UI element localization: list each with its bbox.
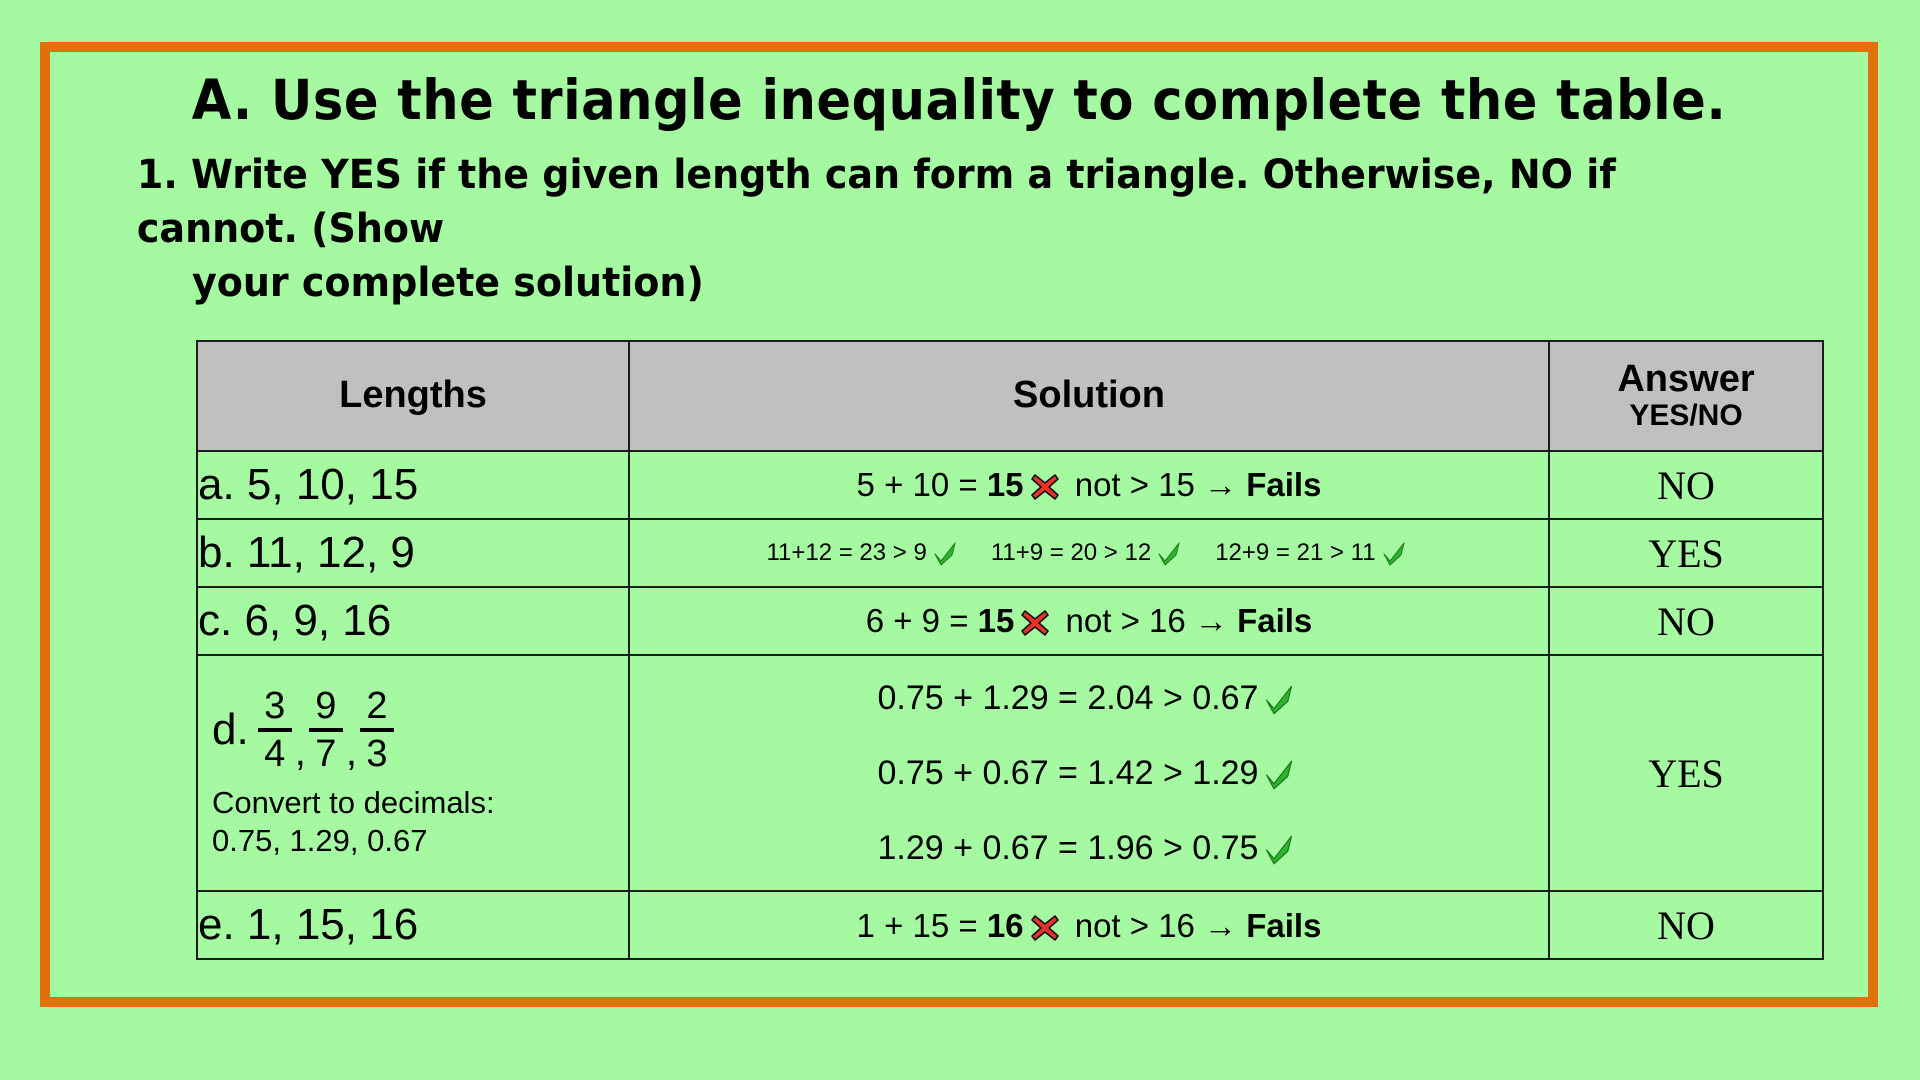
- solution-sum: 15: [978, 602, 1015, 639]
- solution-line: 6 + 9 = 15 not > 16 → Fails: [630, 601, 1548, 641]
- answer-cell-c: NO: [1549, 587, 1823, 655]
- fraction-denominator: 4: [258, 735, 291, 774]
- triangle-inequality-table: Lengths Solution Answer YES/NO: [196, 340, 1824, 960]
- cross-icon: [1030, 472, 1060, 502]
- lengths-cell-d: d. 3 4 , 9 7: [197, 655, 629, 891]
- instruction-text: 1. Write YES if the given length can for…: [78, 148, 1752, 310]
- solution-tail: not > 16: [1066, 907, 1205, 944]
- check-icon: [1382, 542, 1406, 566]
- fraction: 9 7: [309, 687, 343, 775]
- cross-icon: [1020, 608, 1050, 638]
- solution-line: 5 + 10 = 15 not > 15 → Fails: [630, 465, 1548, 505]
- column-header-answer: Answer YES/NO: [1549, 341, 1823, 451]
- slide-content: A. Use the triangle inequality to comple…: [50, 52, 1868, 997]
- check-icon: [1264, 835, 1294, 865]
- fraction-list: d. 3 4 , 9 7: [198, 677, 628, 775]
- column-header-solution: Solution: [629, 341, 1549, 451]
- column-header-lengths: Lengths: [197, 341, 629, 451]
- check-expression: 11+12 = 23 > 9: [766, 539, 926, 566]
- convert-values: 0.75, 1.29, 0.67: [212, 822, 628, 860]
- fraction-denominator: 3: [360, 735, 393, 774]
- column-header-solution-label: Solution: [630, 376, 1548, 416]
- table-header-row: Lengths Solution Answer YES/NO: [197, 341, 1823, 451]
- solution-expression: 6 + 9 =: [866, 602, 978, 639]
- solution-line: 11+12 = 23 > 911+9 = 20 > 1212+9 = 21 > …: [630, 539, 1548, 568]
- lengths-cell-e: e. 1, 15, 16: [197, 891, 629, 959]
- fraction-numerator: 3: [258, 687, 291, 726]
- solution-line: 0.75 + 1.29 = 2.04 > 0.67: [630, 678, 1548, 719]
- solution-cell-e: 1 + 15 = 16 not > 16 → Fails: [629, 891, 1549, 959]
- solution-line: 0.75 + 0.67 = 1.42 > 1.29: [630, 753, 1548, 794]
- fraction-bar: [258, 728, 292, 732]
- column-header-answer-sub: YES/NO: [1550, 399, 1822, 432]
- answer-cell-b: YES: [1549, 519, 1823, 587]
- column-header-answer-label: Answer: [1550, 360, 1822, 400]
- check-icon: [1264, 760, 1294, 790]
- answer-cell-a: NO: [1549, 451, 1823, 519]
- solution-tail: not > 15: [1066, 466, 1205, 503]
- row-label-d: d.: [212, 708, 249, 752]
- fraction-denominator: 7: [309, 735, 342, 774]
- check-group: 11+9 = 20 > 12: [991, 539, 1187, 566]
- separator-comma: ,: [346, 732, 357, 774]
- separator-comma: ,: [295, 732, 306, 774]
- solution-sum: 16: [987, 907, 1024, 944]
- worksheet-slide: A. Use the triangle inequality to comple…: [40, 42, 1878, 1007]
- solution-cell-d: 0.75 + 1.29 = 2.04 > 0.67 0.75 + 0.67 = …: [629, 655, 1549, 891]
- lengths-cell-a: a. 5, 10, 15: [197, 451, 629, 519]
- lengths-cell-c: c. 6, 9, 16: [197, 587, 629, 655]
- cross-icon: [1030, 913, 1060, 943]
- solution-arrow: →: [1204, 466, 1237, 503]
- solution-arrow: →: [1204, 907, 1237, 944]
- solution-tail: not > 16: [1056, 602, 1195, 639]
- solution-expression: 1 + 15 =: [857, 907, 987, 944]
- solution-result: Fails: [1246, 466, 1321, 503]
- check-expression: 11+9 = 20 > 12: [991, 539, 1151, 566]
- lengths-cell-b: b. 11, 12, 9: [197, 519, 629, 587]
- fraction-numerator: 9: [309, 687, 342, 726]
- solution-sum: 15: [987, 466, 1024, 503]
- table-body: a. 5, 10, 15 5 + 10 = 15 not > 15 → Fail…: [197, 451, 1823, 959]
- fraction-bar: [309, 728, 343, 732]
- solution-line: 1.29 + 0.67 = 1.96 > 0.75: [630, 828, 1548, 869]
- solution-result: Fails: [1246, 907, 1321, 944]
- solution-cell-c: 6 + 9 = 15 not > 16 → Fails: [629, 587, 1549, 655]
- check-expression: 1.29 + 0.67 = 1.96 > 0.75: [878, 829, 1259, 867]
- table-row: e. 1, 15, 16 1 + 15 = 16 not > 16 → Fail…: [197, 891, 1823, 959]
- table-row: d. 3 4 , 9 7: [197, 655, 1823, 891]
- fraction-numerator: 2: [360, 687, 393, 726]
- convert-note: Convert to decimals: 0.75, 1.29, 0.67: [198, 774, 628, 870]
- fraction: 2 3: [360, 687, 394, 775]
- check-icon: [933, 542, 957, 566]
- check-expression: 12+9 = 21 > 11: [1215, 539, 1375, 566]
- check-group: 12+9 = 21 > 11: [1215, 539, 1411, 566]
- table-row: a. 5, 10, 15 5 + 10 = 15 not > 15 → Fail…: [197, 451, 1823, 519]
- table-row: c. 6, 9, 16 6 + 9 = 15 not > 16 → Fails …: [197, 587, 1823, 655]
- solution-result: Fails: [1237, 602, 1312, 639]
- table-container: Lengths Solution Answer YES/NO: [78, 340, 1840, 960]
- check-icon: [1264, 685, 1294, 715]
- check-icon: [1157, 542, 1181, 566]
- solution-arrow: →: [1195, 602, 1228, 639]
- check-expression: 0.75 + 1.29 = 2.04 > 0.67: [878, 679, 1259, 717]
- solution-line: 1 + 15 = 16 not > 16 → Fails: [630, 906, 1548, 946]
- column-header-lengths-label: Lengths: [198, 376, 628, 416]
- instruction-line-2: your complete solution): [137, 256, 1752, 310]
- table-head: Lengths Solution Answer YES/NO: [197, 341, 1823, 451]
- check-group: 11+12 = 23 > 9: [766, 539, 962, 566]
- check-expression: 0.75 + 0.67 = 1.42 > 1.29: [878, 754, 1259, 792]
- fraction-bar: [360, 728, 394, 732]
- table-row: b. 11, 12, 9 11+12 = 23 > 911+9 = 20 > 1…: [197, 519, 1823, 587]
- convert-label: Convert to decimals:: [212, 784, 628, 822]
- page-title: A. Use the triangle inequality to comple…: [140, 68, 1779, 132]
- solution-cell-b: 11+12 = 23 > 911+9 = 20 > 1212+9 = 21 > …: [629, 519, 1549, 587]
- answer-cell-d: YES: [1549, 655, 1823, 891]
- answer-cell-e: NO: [1549, 891, 1823, 959]
- instruction-line-1: 1. Write YES if the given length can for…: [137, 152, 1616, 252]
- solution-expression: 5 + 10 =: [857, 466, 987, 503]
- fraction: 3 4: [258, 687, 292, 775]
- solution-cell-a: 5 + 10 = 15 not > 15 → Fails: [629, 451, 1549, 519]
